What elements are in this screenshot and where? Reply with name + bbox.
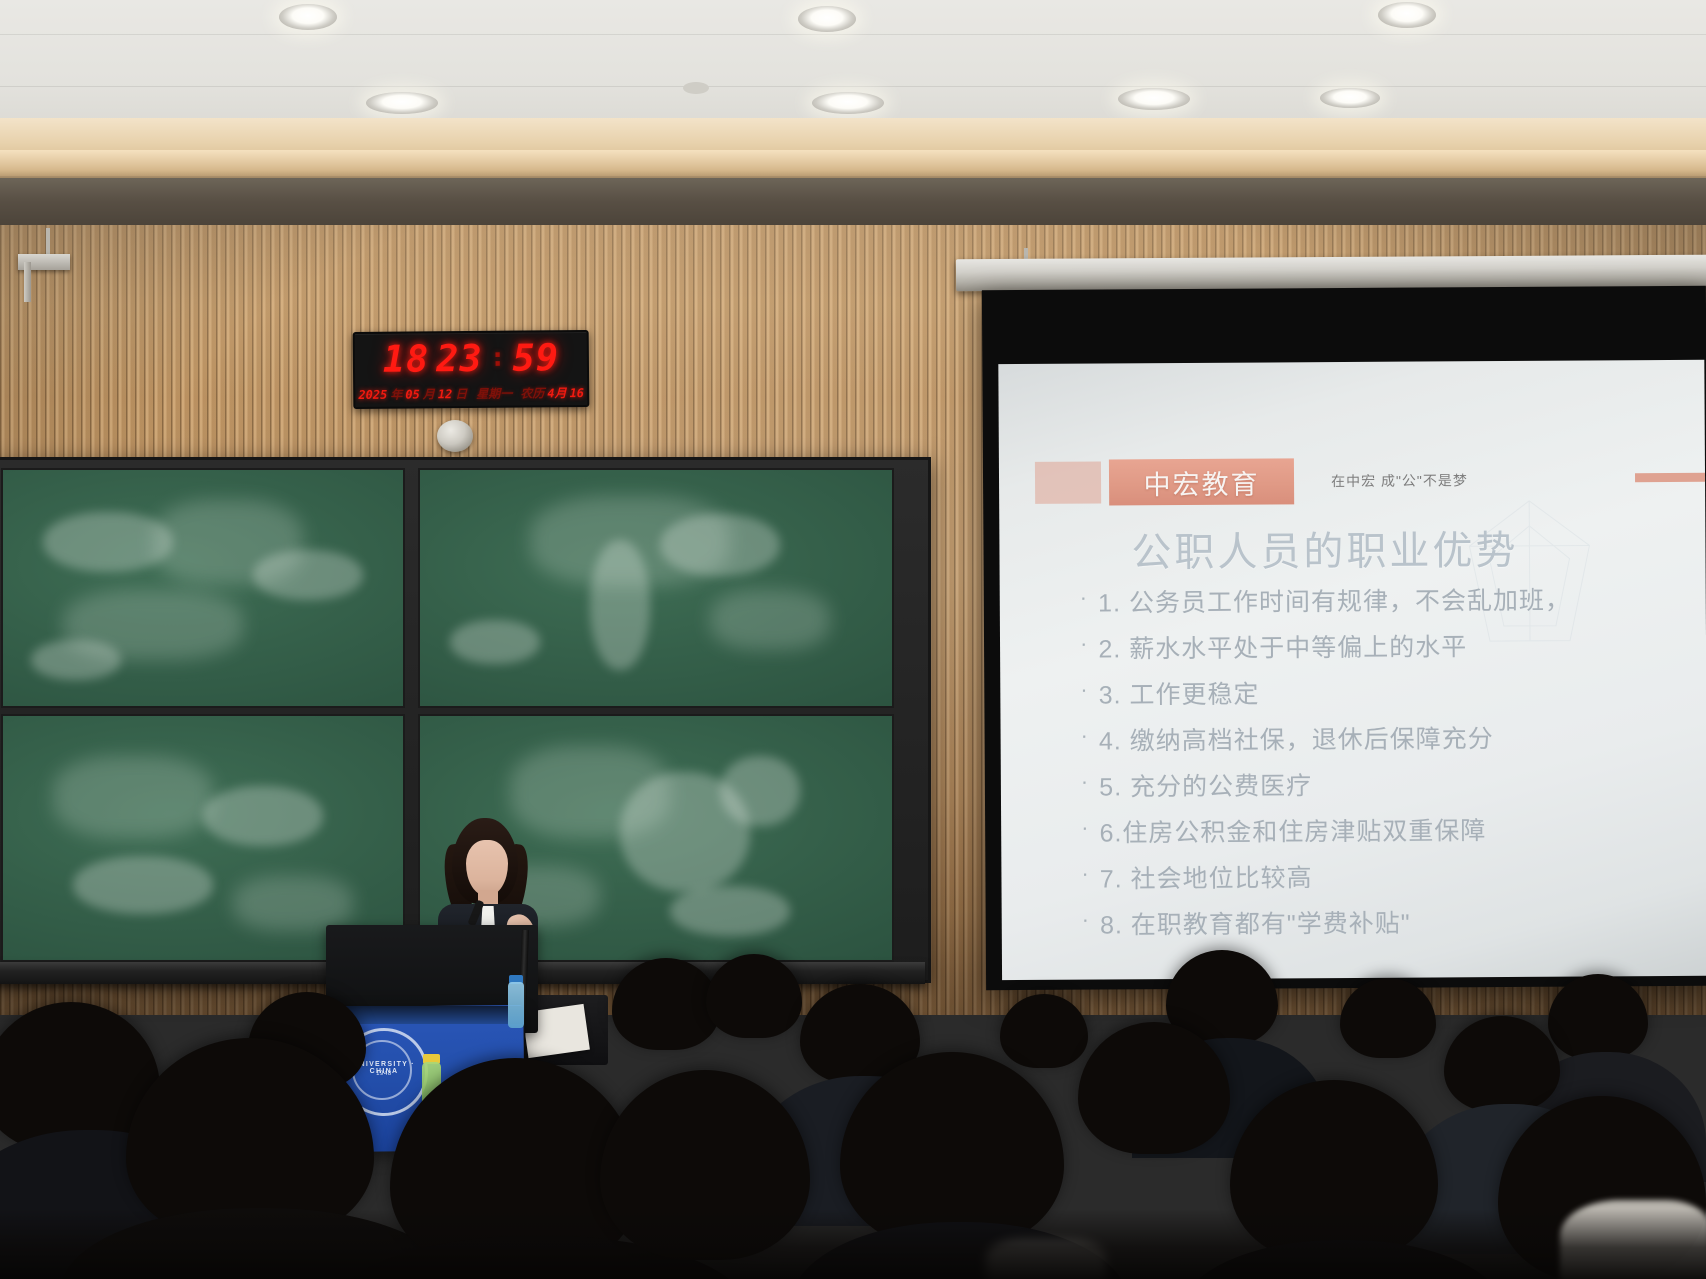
lecture-hall-photo: 18 23 : 59 2025 年 05 月 12 日 星期一 农历 4月 16 xyxy=(0,0,1706,1279)
bullet-text: 7. 社会地位比较高 xyxy=(1100,863,1313,894)
bullet-text: 4. 缴纳高档社保，退休后保障充分 xyxy=(1099,724,1494,756)
ceiling-downlight xyxy=(1378,2,1436,28)
projector-screen: 中宏教育 在中宏 成"公"不是梦 公职人员的职业优势 xyxy=(982,286,1706,990)
audience xyxy=(0,940,1706,1279)
clock-year: 2025 xyxy=(358,388,387,400)
clock-year-suffix: 年 xyxy=(390,388,402,400)
slide-bullet-item: · 4. 缴纳高档社保，退休后保障充分 xyxy=(1081,723,1706,757)
audience-head xyxy=(1340,978,1436,1058)
screen-chain xyxy=(46,228,50,256)
bullet-text: 3. 工作更稳定 xyxy=(1099,680,1260,711)
upper-wall-shadow xyxy=(0,178,1706,230)
clock-colon: : xyxy=(490,343,506,373)
ceiling-downlight xyxy=(366,92,438,114)
clock-lunar-day: 16 xyxy=(569,387,584,399)
clock-weekday: 星期一 xyxy=(476,387,512,399)
audience-head xyxy=(612,958,720,1050)
bullet-marker-icon: · xyxy=(1080,676,1087,704)
digital-wall-clock: 18 23 : 59 2025 年 05 月 12 日 星期一 农历 4月 16 xyxy=(353,330,590,409)
clock-lunar-label: 农历 xyxy=(520,387,544,399)
bullet-text: 2. 薪水水平处于中等偏上的水平 xyxy=(1098,632,1467,664)
ceiling-downlight xyxy=(1320,88,1380,108)
audience-head xyxy=(1548,974,1648,1060)
slide-logo-label: 中宏教育 xyxy=(1143,462,1259,502)
projected-slide-surface: 中宏教育 在中宏 成"公"不是梦 公职人员的职业优势 xyxy=(998,360,1706,980)
bullet-marker-icon: · xyxy=(1081,860,1088,888)
slide-bullet-item: · 2. 薪水水平处于中等偏上的水平 xyxy=(1080,631,1706,665)
clock-time-row: 18 23 : 59 xyxy=(355,334,587,382)
blackboard-panel xyxy=(1,468,405,708)
ceiling-downlight xyxy=(279,4,337,30)
bullet-text: 8. 在职教育都有"学费补贴" xyxy=(1100,909,1411,941)
screen-bracket-left-arm xyxy=(24,262,31,302)
ceiling-downlight xyxy=(812,92,884,114)
blackboard-panel xyxy=(418,468,894,708)
bullet-marker-icon: · xyxy=(1080,584,1087,612)
clock-lunar-month: 4月 xyxy=(547,387,566,399)
audience-head xyxy=(1444,1016,1560,1112)
clock-date-row: 2025 年 05 月 12 日 星期一 农历 4月 16 xyxy=(355,382,587,405)
clock-month: 05 xyxy=(405,388,420,400)
audience-head xyxy=(706,954,802,1038)
bullet-text: 5. 充分的公费医疗 xyxy=(1099,771,1312,802)
slide-bullet-item: · 8. 在职教育都有"学费补贴" xyxy=(1082,907,1706,941)
slide-bullet-item: · 1. 公务员工作时间有规律，不会乱加班， xyxy=(1080,585,1706,619)
ceiling-downlight xyxy=(798,6,856,32)
presentation-slide: 中宏教育 在中宏 成"公"不是梦 公职人员的职业优势 xyxy=(998,360,1706,980)
bullet-marker-icon: · xyxy=(1081,814,1088,842)
clock-month-suffix: 月 xyxy=(423,388,435,400)
slide-header-rule xyxy=(1635,473,1706,483)
bullet-marker-icon: · xyxy=(1081,722,1088,750)
ceiling-smoke-detector xyxy=(683,82,709,94)
slide-logo-badge: 中宏教育 xyxy=(1109,458,1294,505)
slide-title: 公职人员的职业优势 xyxy=(1131,518,1518,578)
clock-minutes: 23 xyxy=(436,339,483,376)
ceiling-downlight xyxy=(1118,88,1190,110)
bullet-text: 1. 公务员工作时间有规律，不会乱加班， xyxy=(1098,586,1571,619)
bullet-text: 6.住房公积金和住房津贴双重保障 xyxy=(1099,816,1486,848)
slide-bullet-list: · 1. 公务员工作时间有规律，不会乱加班， · 2. 薪水水平处于中等偏上的水… xyxy=(1080,585,1706,957)
clock-seconds: 59 xyxy=(512,339,559,376)
slide-bullet-item: · 6.住房公积金和住房津贴双重保障 xyxy=(1081,815,1706,849)
clock-day: 12 xyxy=(438,388,453,400)
bullet-marker-icon: · xyxy=(1082,906,1089,934)
wall-sensor xyxy=(437,420,473,452)
slide-tagline: 在中宏 成"公"不是梦 xyxy=(1331,470,1468,491)
audience-head xyxy=(1000,994,1088,1068)
slide-bullet-item: · 5. 充分的公费医疗 xyxy=(1081,769,1706,803)
clock-hours: 18 xyxy=(383,340,430,377)
bullet-marker-icon: · xyxy=(1080,630,1087,658)
audience-foreground-shadow xyxy=(0,1209,1706,1279)
clock-day-suffix: 日 xyxy=(455,388,467,400)
slide-logo-square xyxy=(1035,461,1101,503)
slide-bullet-item: · 3. 工作更稳定 xyxy=(1080,677,1706,711)
slide-bullet-item: · 7. 社会地位比较高 xyxy=(1081,861,1706,895)
bullet-marker-icon: · xyxy=(1081,768,1088,796)
